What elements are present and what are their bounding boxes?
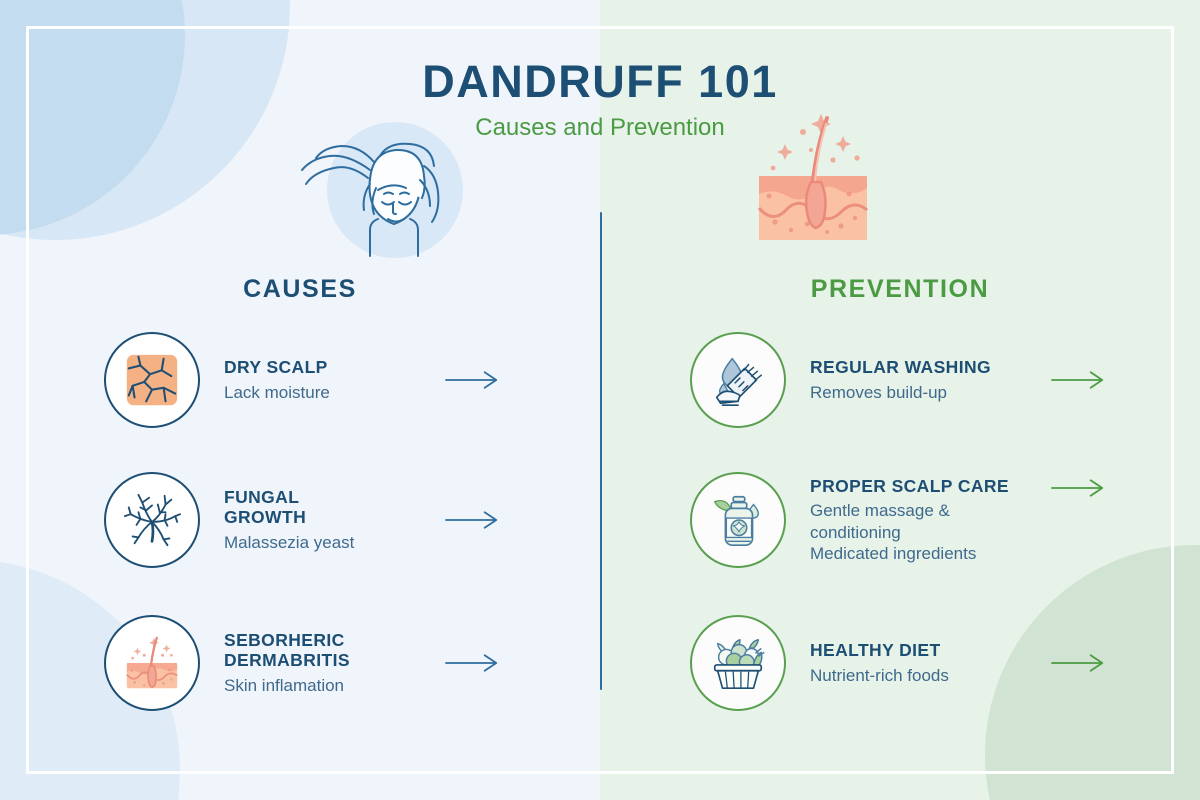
fungal-hyphae-icon [104,472,200,568]
cause-row-fungal-growth[interactable]: FUNGAL GROWTH Malassezia yeast [104,472,504,568]
cause-row-seborheric-dermabritis[interactable]: SEBORHERIC DERMABRITIS Skin inflamation [104,615,504,711]
prevention-text-regular-washing: REGULAR WASHING Removes build-up [810,357,1042,403]
inflamed-skin-follicle-icon [104,615,200,711]
cause-title-line-2: DERMABRITIS [224,650,436,671]
causes-heading: CAUSES [0,275,600,304]
cause-title-fungal-growth: FUNGAL GROWTH [224,487,436,528]
cause-row-dry-scalp[interactable]: DRY SCALP Lack moisture [104,332,504,428]
cause-desc-fungal-growth: Malassezia yeast [224,532,436,553]
cracked-dry-skin-icon [104,332,200,428]
cause-text-seborheric-dermabritis: SEBORHERIC DERMABRITIS Skin inflamation [224,630,436,697]
cause-title-line-1: SEBORHERIC [224,630,436,651]
arrow-right-icon[interactable] [442,510,504,530]
cause-title-seborheric-dermabritis: SEBORHERIC DERMABRITIS [224,630,436,671]
cause-text-fungal-growth: FUNGAL GROWTH Malassezia yeast [224,487,436,554]
cause-title-line-1: FUNGAL [224,487,436,508]
cause-desc-seborheric-dermabritis: Skin inflamation [224,675,436,696]
page-title: DANDRUFF 101 [0,56,1200,108]
prevention-desc-healthy-diet: Nutrient-rich foods [810,665,1042,686]
prevention-text-proper-scalp-care: PROPER SCALP CARE Gentle massage & condi… [810,476,1042,564]
cause-desc-dry-scalp: Lack moisture [224,382,436,403]
prevention-text-healthy-diet: HEALTHY DIET Nutrient-rich foods [810,640,1042,686]
vegetable-basket-icon [690,615,786,711]
pump-bottle-leaf-icon [690,472,786,568]
arrow-right-icon[interactable] [1048,478,1110,498]
arrow-right-icon[interactable] [1048,370,1110,390]
prevention-heading: PREVENTION [600,275,1200,304]
woman-head-hair-illustration [300,118,475,260]
arrow-right-icon[interactable] [442,653,504,673]
prevention-title-regular-washing: REGULAR WASHING [810,357,1042,378]
prevention-row-healthy-diet[interactable]: HEALTHY DIET Nutrient-rich foods [690,615,1110,711]
cause-title-line-2: GROWTH [224,507,436,528]
page-subtitle: Causes and Prevention [0,114,1200,142]
prevention-row-regular-washing[interactable]: REGULAR WASHING Removes build-up [690,332,1110,428]
prevention-title-proper-scalp-care: PROPER SCALP CARE [810,476,1042,497]
water-droplet-comb-hand-icon [690,332,786,428]
cause-text-dry-scalp: DRY SCALP Lack moisture [224,357,436,403]
cause-title-dry-scalp: DRY SCALP [224,357,436,378]
prevention-desc-regular-washing: Removes build-up [810,382,1042,403]
prevention-desc-proper-scalp-care: Gentle massage & conditioning [810,500,1042,543]
prevention-desc2-proper-scalp-care: Medicated ingredients [810,543,1042,564]
infographic-poster: DANDRUFF 101 Causes and Prevention [0,0,1200,800]
arrow-right-icon[interactable] [1048,653,1110,673]
skin-cross-section-follicle-illustration [745,110,880,250]
prevention-title-healthy-diet: HEALTHY DIET [810,640,1042,661]
prevention-row-proper-scalp-care[interactable]: PROPER SCALP CARE Gentle massage & condi… [690,472,1110,568]
arrow-right-icon[interactable] [442,370,504,390]
